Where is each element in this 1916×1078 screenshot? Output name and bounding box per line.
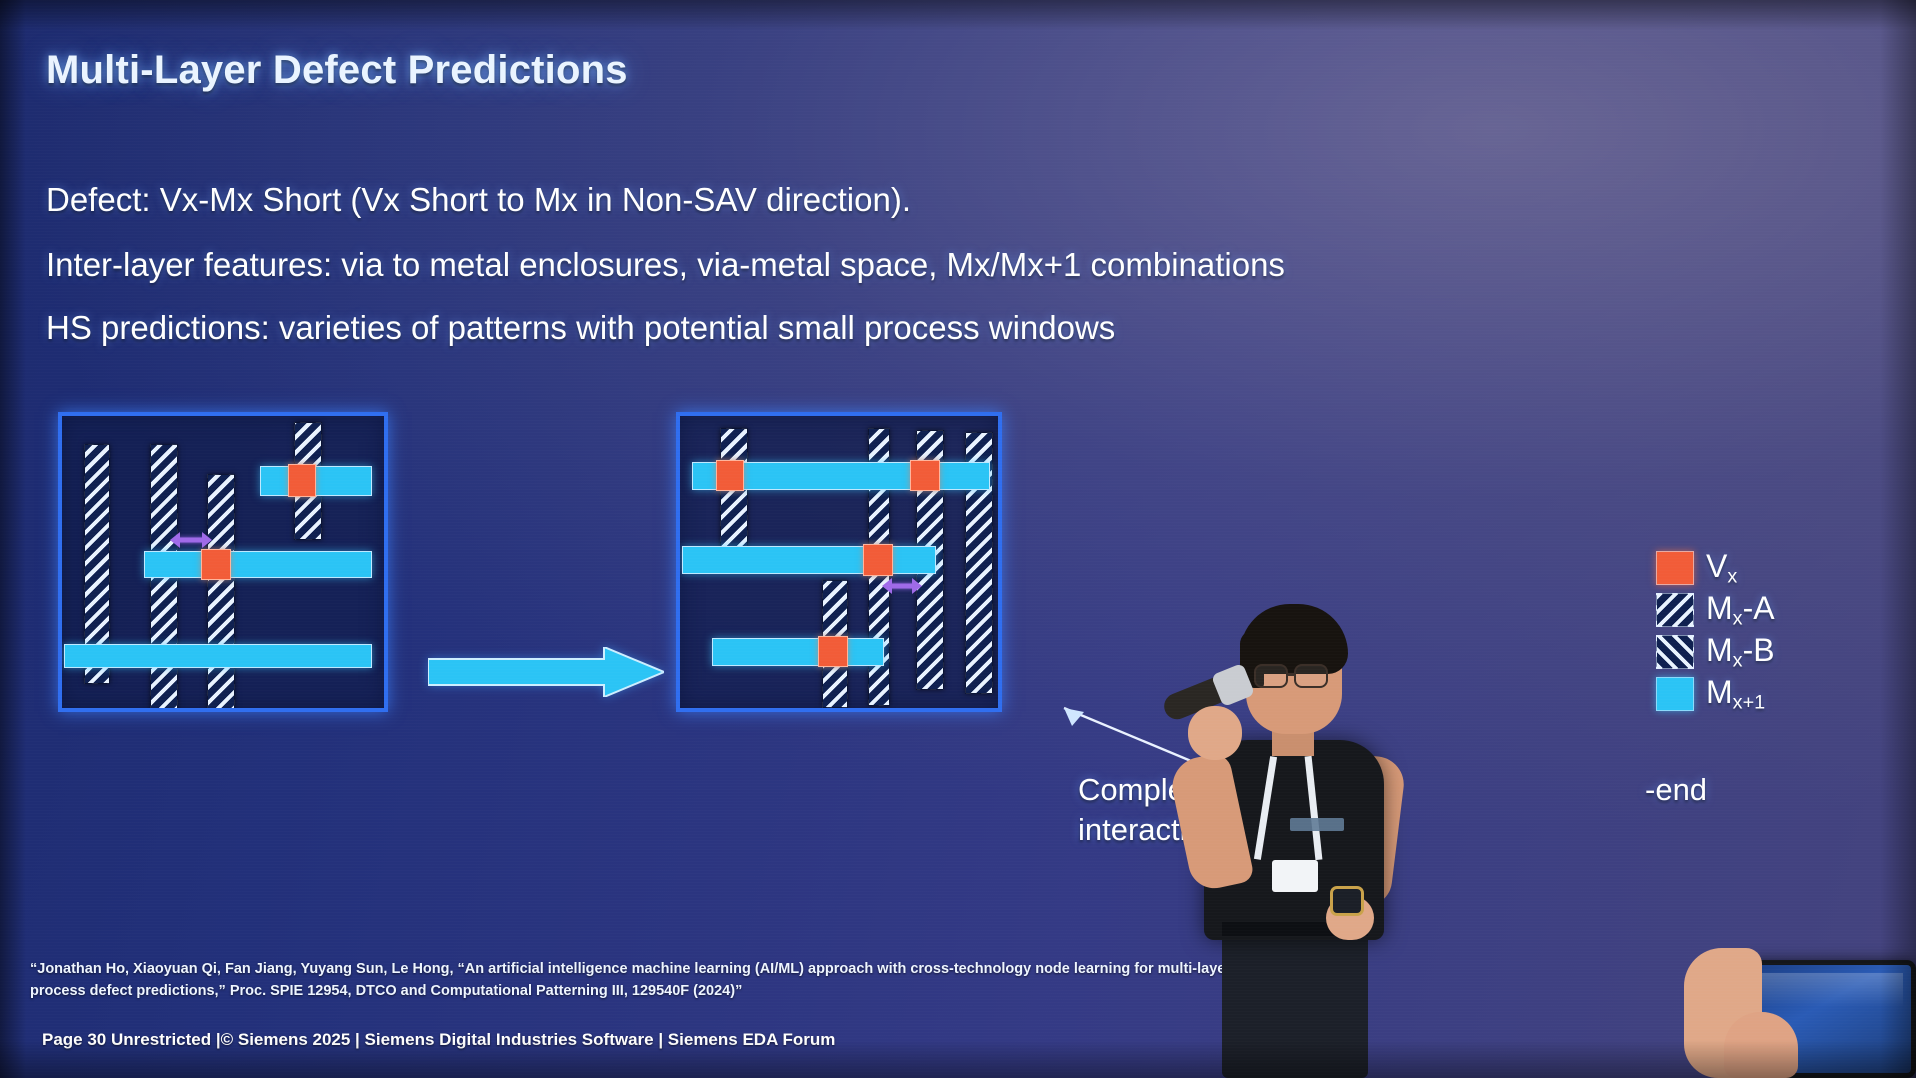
mxa-swatch-icon bbox=[1656, 593, 1694, 627]
body-line-features: Inter-layer features: via to metal enclo… bbox=[46, 246, 1285, 284]
spacing-double-arrow bbox=[882, 578, 922, 594]
metal-mx1-bar bbox=[682, 546, 936, 574]
metal-mx1-bar bbox=[260, 466, 372, 496]
presenter-shirt-logo bbox=[1290, 818, 1344, 831]
diagram-left-panel bbox=[58, 412, 388, 712]
slide-stage: Multi-Layer Defect Predictions Defect: V… bbox=[0, 0, 1916, 1078]
legend-label-vx: Vx bbox=[1706, 548, 1737, 589]
presenter-glasses-bridge bbox=[1287, 673, 1296, 676]
metal-mx1-bar bbox=[712, 638, 884, 666]
metal-mx1-bar bbox=[64, 644, 372, 668]
diagram-right-panel bbox=[676, 412, 1002, 712]
via-swatch-icon bbox=[1656, 551, 1694, 585]
legend-item-mxa: Mx-A bbox=[1656, 590, 1775, 630]
footer-pagebar: Page 30 Unrestricted |© Siemens 2025 | S… bbox=[42, 1030, 835, 1050]
presenter-left-hand bbox=[1188, 706, 1242, 760]
mx1-swatch-icon bbox=[1656, 677, 1694, 711]
metal-mxa-bar bbox=[207, 474, 235, 712]
phone-screen-glare bbox=[1761, 973, 1903, 1007]
legend-label-mxa: Mx-A bbox=[1706, 590, 1775, 631]
presenter-person bbox=[1180, 560, 1400, 1078]
via-square bbox=[716, 460, 744, 491]
legend-label-mx1: Mx+1 bbox=[1706, 674, 1765, 715]
metal-mxa-bar bbox=[720, 428, 748, 558]
presenter-badge bbox=[1272, 860, 1318, 892]
transition-arrow-icon bbox=[428, 647, 664, 697]
legend-item-mxb: Mx-B bbox=[1656, 632, 1775, 672]
audience-thumb bbox=[1724, 1012, 1798, 1078]
presenter-smartwatch bbox=[1330, 886, 1364, 916]
via-square bbox=[201, 549, 231, 580]
presenter-glasses-left-lens bbox=[1254, 664, 1288, 688]
metal-mx1-bar bbox=[144, 551, 372, 578]
page-title: Multi-Layer Defect Predictions bbox=[46, 48, 628, 93]
body-line-defect: Defect: Vx-Mx Short (Vx Short to Mx in N… bbox=[46, 181, 911, 219]
occluded-text-tail: -end bbox=[1645, 772, 1707, 808]
mxb-swatch-icon bbox=[1656, 635, 1694, 669]
legend: Vx Mx-A Mx-B Mx+1 bbox=[1656, 548, 1775, 716]
legend-item-mx1: Mx+1 bbox=[1656, 674, 1775, 714]
via-square bbox=[818, 636, 848, 667]
via-square bbox=[288, 464, 316, 497]
audience-hand-with-phone bbox=[1688, 938, 1916, 1078]
metal-mxa-bar bbox=[150, 444, 178, 712]
presenter-glasses-right-lens bbox=[1294, 664, 1328, 688]
legend-item-vx: Vx bbox=[1656, 548, 1775, 588]
body-line-predictions: HS predictions: varieties of patterns wi… bbox=[46, 309, 1115, 347]
spacing-double-arrow bbox=[170, 532, 212, 548]
via-square bbox=[863, 544, 893, 576]
citation-text: “Jonathan Ho, Xiaoyuan Qi, Fan Jiang, Yu… bbox=[30, 958, 1260, 1002]
presenter-legs bbox=[1222, 928, 1368, 1078]
via-square bbox=[910, 460, 940, 491]
legend-label-mxb: Mx-B bbox=[1706, 632, 1775, 673]
